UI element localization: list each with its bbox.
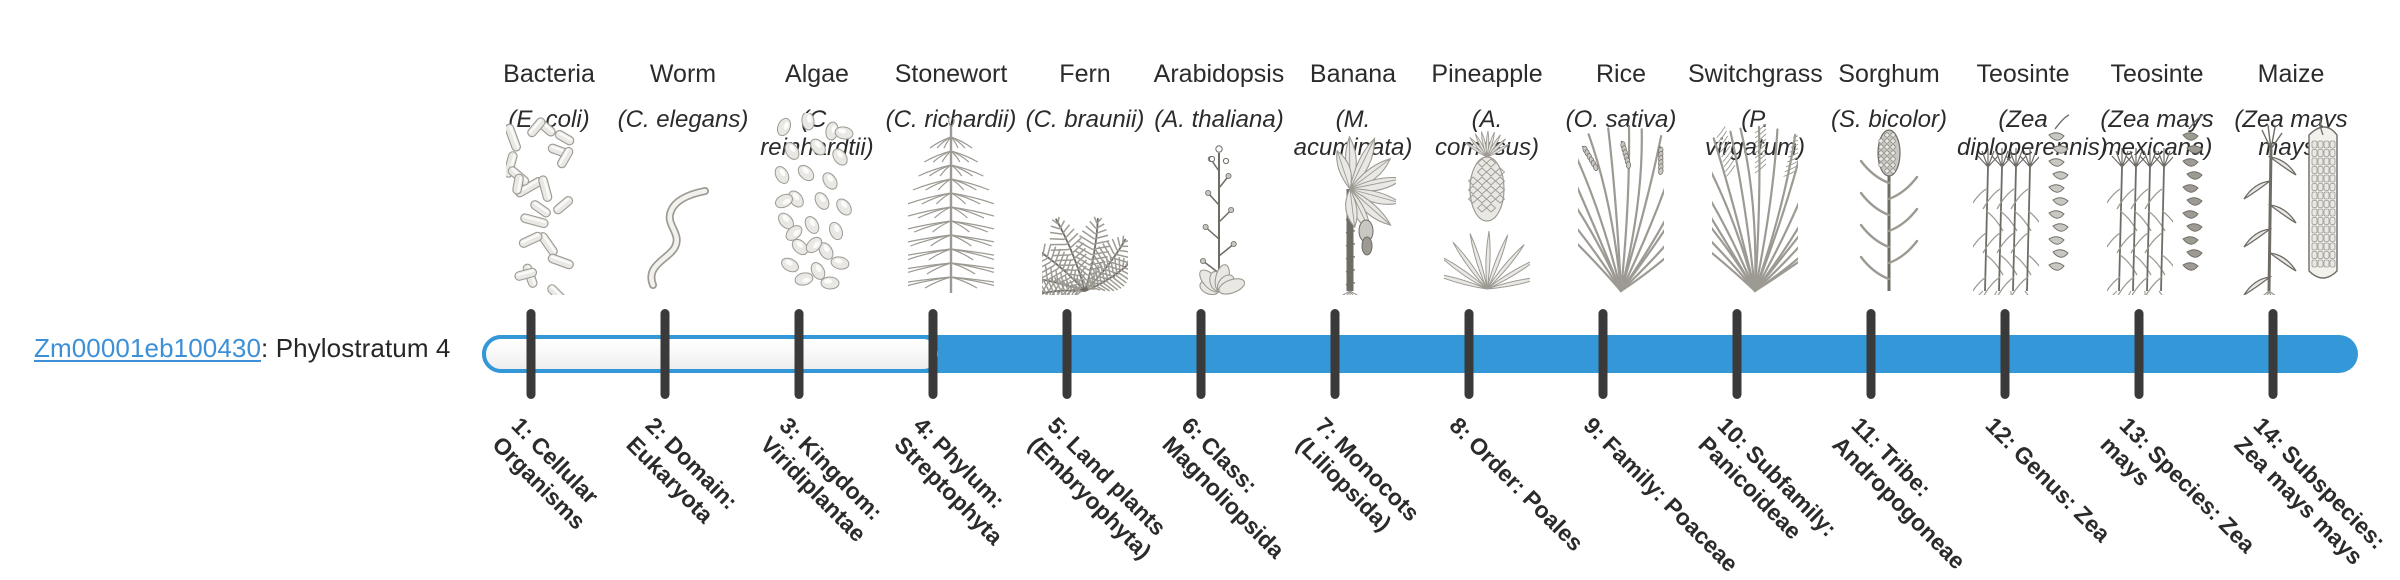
tick-mark-stratum-12[interactable] bbox=[2000, 309, 2009, 399]
species-common-name: Arabidopsis bbox=[1152, 60, 1286, 88]
fern-illustration bbox=[1018, 170, 1152, 295]
tick-mark-stratum-14[interactable] bbox=[2268, 309, 2277, 399]
arabidopsis-illustration bbox=[1152, 170, 1286, 295]
phylostratum-bar-track[interactable] bbox=[482, 335, 2358, 373]
teosinte-diploperennis-illustration bbox=[1956, 170, 2090, 295]
species-column-switchgrass-10: Switchgrass(P. virgatum) bbox=[1688, 0, 1822, 320]
phylostratum-value: Phylostratum 4 bbox=[276, 333, 451, 363]
worm-illustration bbox=[616, 170, 750, 295]
species-common-name: Pineapple bbox=[1420, 60, 1554, 88]
tick-mark-stratum-4[interactable] bbox=[928, 309, 937, 399]
species-common-name: Worm bbox=[616, 60, 750, 88]
teosinte-mexicana-illustration bbox=[2090, 170, 2224, 295]
species-column-teosinte-13: Teosinte(Zea mays mexicana) bbox=[2090, 0, 2224, 320]
species-column-teosinte-12: Teosinte(Zea diploperennis) bbox=[1956, 0, 2090, 320]
species-column-banana-7: Banana(M. acuminata) bbox=[1286, 0, 1420, 320]
tick-mark-stratum-11[interactable] bbox=[1866, 309, 1875, 399]
species-column-pineapple-8: Pineapple(A. comosus) bbox=[1420, 0, 1554, 320]
species-column-worm-2: Worm(C. elegans) bbox=[616, 0, 750, 320]
species-common-name: Rice bbox=[1554, 60, 1688, 88]
species-column-fern-5: Fern(C. braunii) bbox=[1018, 0, 1152, 320]
species-common-name: Algae bbox=[750, 60, 884, 88]
gene-id-link[interactable]: Zm00001eb100430 bbox=[34, 333, 261, 363]
tick-mark-stratum-1[interactable] bbox=[526, 309, 535, 399]
tick-mark-stratum-3[interactable] bbox=[794, 309, 803, 399]
species-column-stonewort-4: Stonewort(C. richardii) bbox=[884, 0, 1018, 320]
tick-mark-stratum-10[interactable] bbox=[1732, 309, 1741, 399]
bacteria-illustration bbox=[482, 170, 616, 295]
rice-illustration bbox=[1554, 170, 1688, 295]
species-column-rice-9: Rice(O. sativa) bbox=[1554, 0, 1688, 320]
species-common-name: Switchgrass bbox=[1688, 60, 1822, 88]
phylostratum-bar-empty-segment bbox=[482, 335, 942, 373]
species-column-bacteria-1: Bacteria(E. coli) bbox=[482, 0, 616, 320]
species-column-arabidopsis-6: Arabidopsis(A. thaliana) bbox=[1152, 0, 1286, 320]
tick-mark-stratum-8[interactable] bbox=[1464, 309, 1473, 399]
species-common-name: Fern bbox=[1018, 60, 1152, 88]
switchgrass-illustration bbox=[1688, 170, 1822, 295]
tick-mark-stratum-9[interactable] bbox=[1598, 309, 1607, 399]
banana-illustration bbox=[1286, 170, 1420, 295]
gene-label-separator: : bbox=[261, 333, 276, 363]
sorghum-illustration bbox=[1822, 170, 1956, 295]
tick-mark-stratum-7[interactable] bbox=[1330, 309, 1339, 399]
pineapple-illustration bbox=[1420, 170, 1554, 295]
algae-illustration bbox=[750, 170, 884, 295]
species-column-sorghum-11: Sorghum(S. bicolor) bbox=[1822, 0, 1956, 320]
species-common-name: Sorghum bbox=[1822, 60, 1956, 88]
species-common-name: Bacteria bbox=[482, 60, 616, 88]
maize-illustration bbox=[2224, 170, 2358, 295]
species-column-algae-3: Algae(C. reinhardtii) bbox=[750, 0, 884, 320]
species-common-name: Banana bbox=[1286, 60, 1420, 88]
species-column-maize-14: Maize(Zea mays mays) bbox=[2224, 0, 2358, 320]
gene-phylostratum-label: Zm00001eb100430: Phylostratum 4 bbox=[34, 333, 451, 364]
tick-mark-stratum-5[interactable] bbox=[1062, 309, 1071, 399]
species-common-name: Teosinte bbox=[1956, 60, 2090, 88]
species-common-name: Stonewort bbox=[884, 60, 1018, 88]
phylostratum-timeline-figure: Zm00001eb100430: Phylostratum 4 Bacteria… bbox=[0, 0, 2400, 580]
species-scientific-name: (C. elegans) bbox=[616, 106, 750, 134]
species-common-name: Teosinte bbox=[2090, 60, 2224, 88]
stonewort-illustration bbox=[884, 170, 1018, 295]
tick-mark-stratum-6[interactable] bbox=[1196, 309, 1205, 399]
species-common-name: Maize bbox=[2224, 60, 2358, 88]
tick-mark-stratum-2[interactable] bbox=[660, 309, 669, 399]
tick-mark-stratum-13[interactable] bbox=[2134, 309, 2143, 399]
